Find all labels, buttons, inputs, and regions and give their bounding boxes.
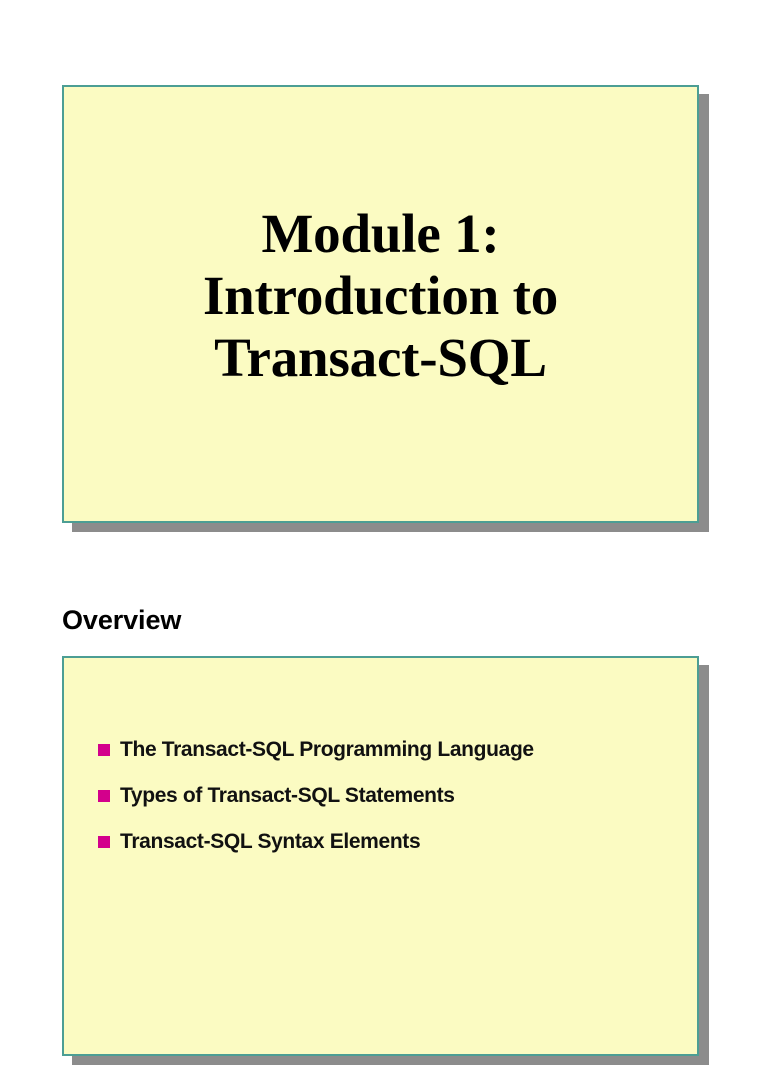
overview-bullet-list: The Transact-SQL Programming Language Ty… [98,736,677,874]
overview-slide-body: The Transact-SQL Programming Language Ty… [62,656,699,1056]
title-slide-heading: Module 1: Introduction to Transact-SQL [64,203,697,389]
title-line-1: Module 1: [64,203,697,265]
title-slide: Module 1: Introduction to Transact-SQL [62,85,699,523]
title-line-3: Transact-SQL [64,327,697,389]
square-bullet-icon [98,836,110,848]
bullet-label: Types of Transact-SQL Statements [120,782,455,810]
title-line-2: Introduction to [64,265,697,327]
section-heading-overview: Overview [62,604,181,636]
square-bullet-icon [98,744,110,756]
title-slide-body: Module 1: Introduction to Transact-SQL [62,85,699,523]
overview-slide: The Transact-SQL Programming Language Ty… [62,656,699,1056]
list-item: Types of Transact-SQL Statements [98,782,677,828]
square-bullet-icon [98,790,110,802]
bullet-label: The Transact-SQL Programming Language [120,736,534,764]
bullet-label: Transact-SQL Syntax Elements [120,828,420,856]
list-item: The Transact-SQL Programming Language [98,736,677,782]
list-item: Transact-SQL Syntax Elements [98,828,677,874]
